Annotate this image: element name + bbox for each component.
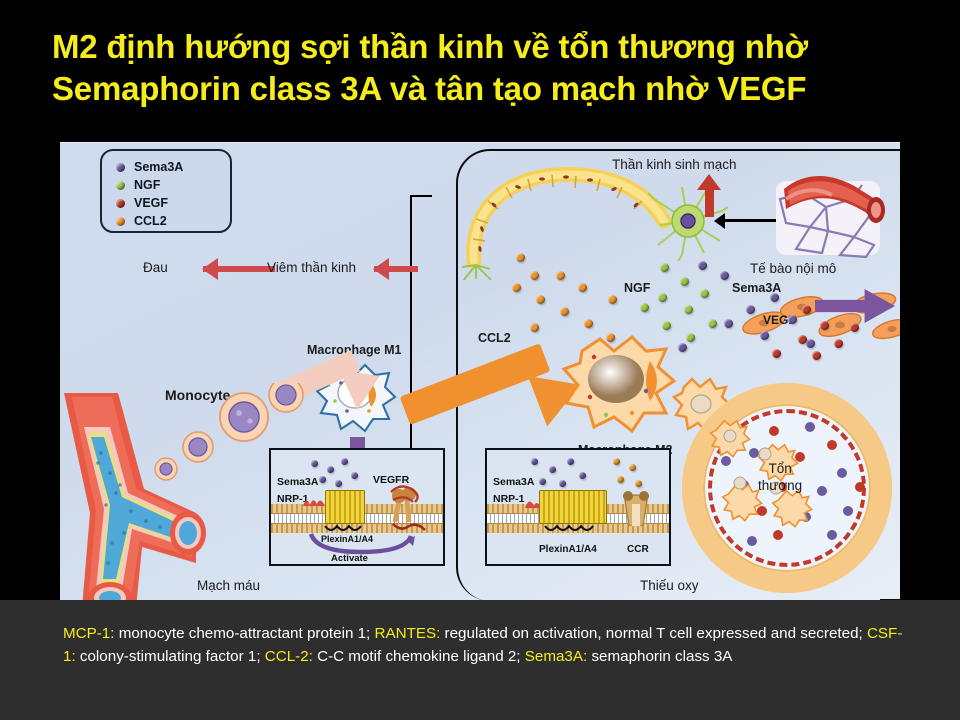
inset-left-label-sema3a: Sema3A [277,476,318,488]
bracket [410,195,432,481]
dot-sema3a [698,261,707,270]
dot-sema3a [327,466,334,473]
legend-item-ngf: NGF [116,176,230,194]
label-hypoxia: Thiếu oxy [640,578,699,593]
dot-ngf [658,293,667,302]
dot-ngf [708,319,717,328]
caption-definition: regulated on activation, normal T cell e… [440,625,867,642]
dot-sema3a [351,472,358,479]
dot-ccl2 [530,323,539,332]
label-ccl2: CCL2 [478,331,511,345]
capillary-network-illustration [770,165,890,265]
dot-ccl2 [556,271,565,280]
dot-sema3a [579,472,586,479]
ccr-receptor [619,484,653,526]
caption-text: MCP-1: monocyte chemo-attractant protein… [63,622,903,668]
dot-sema3a [335,480,342,487]
inset-right-label-ccr: CCR [627,544,649,555]
dot-ngf [660,263,669,272]
figure-panel: Sema3A NGF VEGF CCL2 Đau Viêm thần kinh … [60,142,900,608]
dot-ccl2 [560,307,569,316]
dot-sema3a [311,460,318,467]
dot-sema3a [319,476,326,483]
inset-left-receptors: Sema3A NRP-1 VEGFR [269,448,445,566]
macrophage-m2-cell [560,331,680,439]
dot-vegf [834,339,843,348]
legend-item-ccl2: CCL2 [116,212,230,230]
dot-ngf [680,277,689,286]
dot-ngf [640,303,649,312]
dot-ngf [662,321,671,330]
dot-vegf [850,323,859,332]
legend-item-sema3a: Sema3A [116,158,230,176]
legend-dot-ccl2 [116,217,125,226]
dot-ccl2 [516,253,525,262]
legend-dot-ngf [116,181,125,190]
dot-vegf [772,349,781,358]
dot-vegf [802,305,811,314]
dot-sema3a [559,480,566,487]
dot-sema3a [531,458,538,465]
dot-sema3a [539,478,546,485]
dot-sema3a [341,458,348,465]
label-ngf: NGF [624,281,650,295]
caption-abbreviation: CCL-2: [265,648,313,665]
label-injury: Tổn thương [758,461,802,495]
dot-vegf [812,351,821,360]
dot-sema3a [567,458,574,465]
caption-abbreviation: Sema3A: [525,648,587,665]
dot-sema3a [720,271,729,280]
dot-ccl2 [530,271,539,280]
label-neurogenic-angiogenesis: Thần kinh sinh mạch [612,157,737,172]
label-macrophage-m1: Macrophage M1 [307,343,401,357]
dot-ngf [686,333,695,342]
legend-dot-vegf [116,199,125,208]
legend-dot-sema3a [116,163,125,172]
label-neuroinflammation: Viêm thần kinh [267,260,356,275]
caption-definition: : monocyte chemo-attractant protein 1; [110,625,374,642]
dot-sema3a [746,305,755,314]
dot-ccl2 [608,295,617,304]
legend-label-ngf: NGF [134,178,160,192]
inset-right-label-plexin: PlexinA1/A4 [539,544,597,555]
legend-label-sema3a: Sema3A [134,160,183,174]
inset-right-receptors: Sema3A NRP-1 [485,448,671,566]
legend-label-vegf: VEGF [134,196,168,210]
dot-ngf [684,305,693,314]
dot-ngf [700,289,709,298]
myelinated-nerve-fiber [460,165,680,280]
arrow-up-angiogenesis [705,189,714,217]
nrp1-receptor [301,494,327,508]
label-blood-vessel: Mạch máu [197,578,260,593]
blood-vessel-illustration [60,393,206,608]
label-endothelial-cells: Tế bào nội mô [750,261,836,276]
caption-abbreviation: MCP-1 [63,625,110,642]
dot-sema3a [770,293,779,302]
dot-ccl2 [578,283,587,292]
intracellular-signaling [543,522,653,538]
dot-ccl2 [629,464,636,471]
dot-sema3a [760,331,769,340]
dot-ccl2 [617,476,624,483]
plexin-receptor-barrel [539,490,607,524]
dot-sema3a [724,319,733,328]
caption-definition: semaphorin class 3A [587,648,732,665]
dot-ccl2 [584,319,593,328]
slide-title: M2 định hướng sợi thần kinh về tổn thươn… [52,26,932,109]
dot-ccl2 [613,458,620,465]
legend-box: Sema3A NGF VEGF CCL2 [100,149,232,233]
caption-definition: colony-stimulating factor 1; [76,648,265,665]
inset-right-label-sema3a: Sema3A [493,476,534,488]
dot-sema3a [788,315,797,324]
inset-left-label-plexin: PlexinA1/A4 [321,534,373,544]
dot-ccl2 [536,295,545,304]
caption-definition: C-C motif chemokine ligand 2; [313,648,525,665]
label-pain: Đau [143,260,168,275]
caption-abbreviation: RANTES: [375,625,441,642]
dot-vegf [798,335,807,344]
vegfr-receptor [387,482,427,524]
legend-item-vegf: VEGF [116,194,230,212]
dot-ccl2 [512,283,521,292]
plexin-receptor-barrel [325,490,365,524]
dot-vegf [820,321,829,330]
dot-sema3a [806,339,815,348]
legend-label-ccl2: CCL2 [134,214,167,228]
dot-sema3a [549,466,556,473]
inset-left-label-activate: Activate [331,553,368,564]
